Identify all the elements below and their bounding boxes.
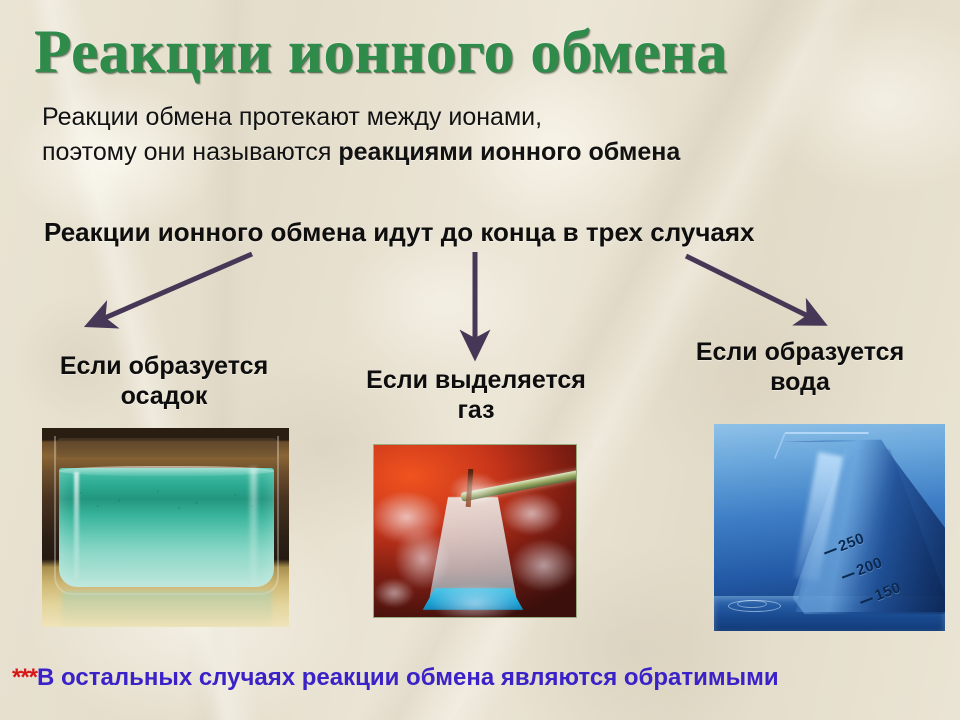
case-3-photo-water: 250 200 150: [714, 424, 945, 631]
case-2-caption: Если выделяется газ: [326, 366, 626, 425]
footer-note: ***В остальных случаях реакции обмена яв…: [12, 664, 960, 692]
photo-1-highlight-left: [74, 472, 79, 579]
page-title: Реакции ионного обмена: [34, 22, 934, 83]
case-1-photo-precipitate: [42, 428, 289, 627]
case-1-caption-line-1: Если образуется: [14, 352, 314, 382]
case-3-caption-line-1: Если образуется: [650, 338, 950, 368]
intro-line-2: поэтому они называются реакциями ионного…: [42, 135, 922, 170]
graduation-200-label: 200: [854, 555, 885, 580]
slide-canvas: Реакции ионного обмена Реакции обмена пр…: [0, 0, 960, 720]
case-1-caption: Если образуется осадок: [14, 352, 314, 411]
photo-1-beaker-rim: [54, 436, 279, 595]
footer-asterisks: ***: [12, 664, 37, 691]
intro-line-2-bold: реакциями ионного обмена: [338, 138, 680, 166]
case-1-caption-line-2: осадок: [14, 382, 314, 412]
photo-2-smoke: [374, 445, 576, 617]
graduation-200: 200: [839, 555, 885, 586]
case-3-caption-line-2: вода: [650, 368, 950, 398]
case-3-caption: Если образуется вода: [650, 338, 950, 397]
case-2-caption-line-2: газ: [326, 396, 626, 426]
intro-line-2-normal: поэтому они называются: [42, 138, 338, 166]
graduation-150-label: 150: [872, 580, 903, 605]
photo-1-highlight-right: [250, 468, 257, 583]
case-2-caption-line-1: Если выделяется: [326, 366, 626, 396]
intro-line-1: Реакции обмена протекают между ионами,: [42, 100, 922, 135]
statement-text: Реакции ионного обмена идут до конца в т…: [44, 217, 934, 248]
footer-text: В остальных случаях реакции обмена являю…: [37, 664, 779, 691]
case-2-photo-gas: [373, 444, 577, 618]
intro-paragraph: Реакции обмена протекают между ионами, п…: [42, 100, 922, 169]
photo-1-table-reflection: [62, 591, 272, 627]
